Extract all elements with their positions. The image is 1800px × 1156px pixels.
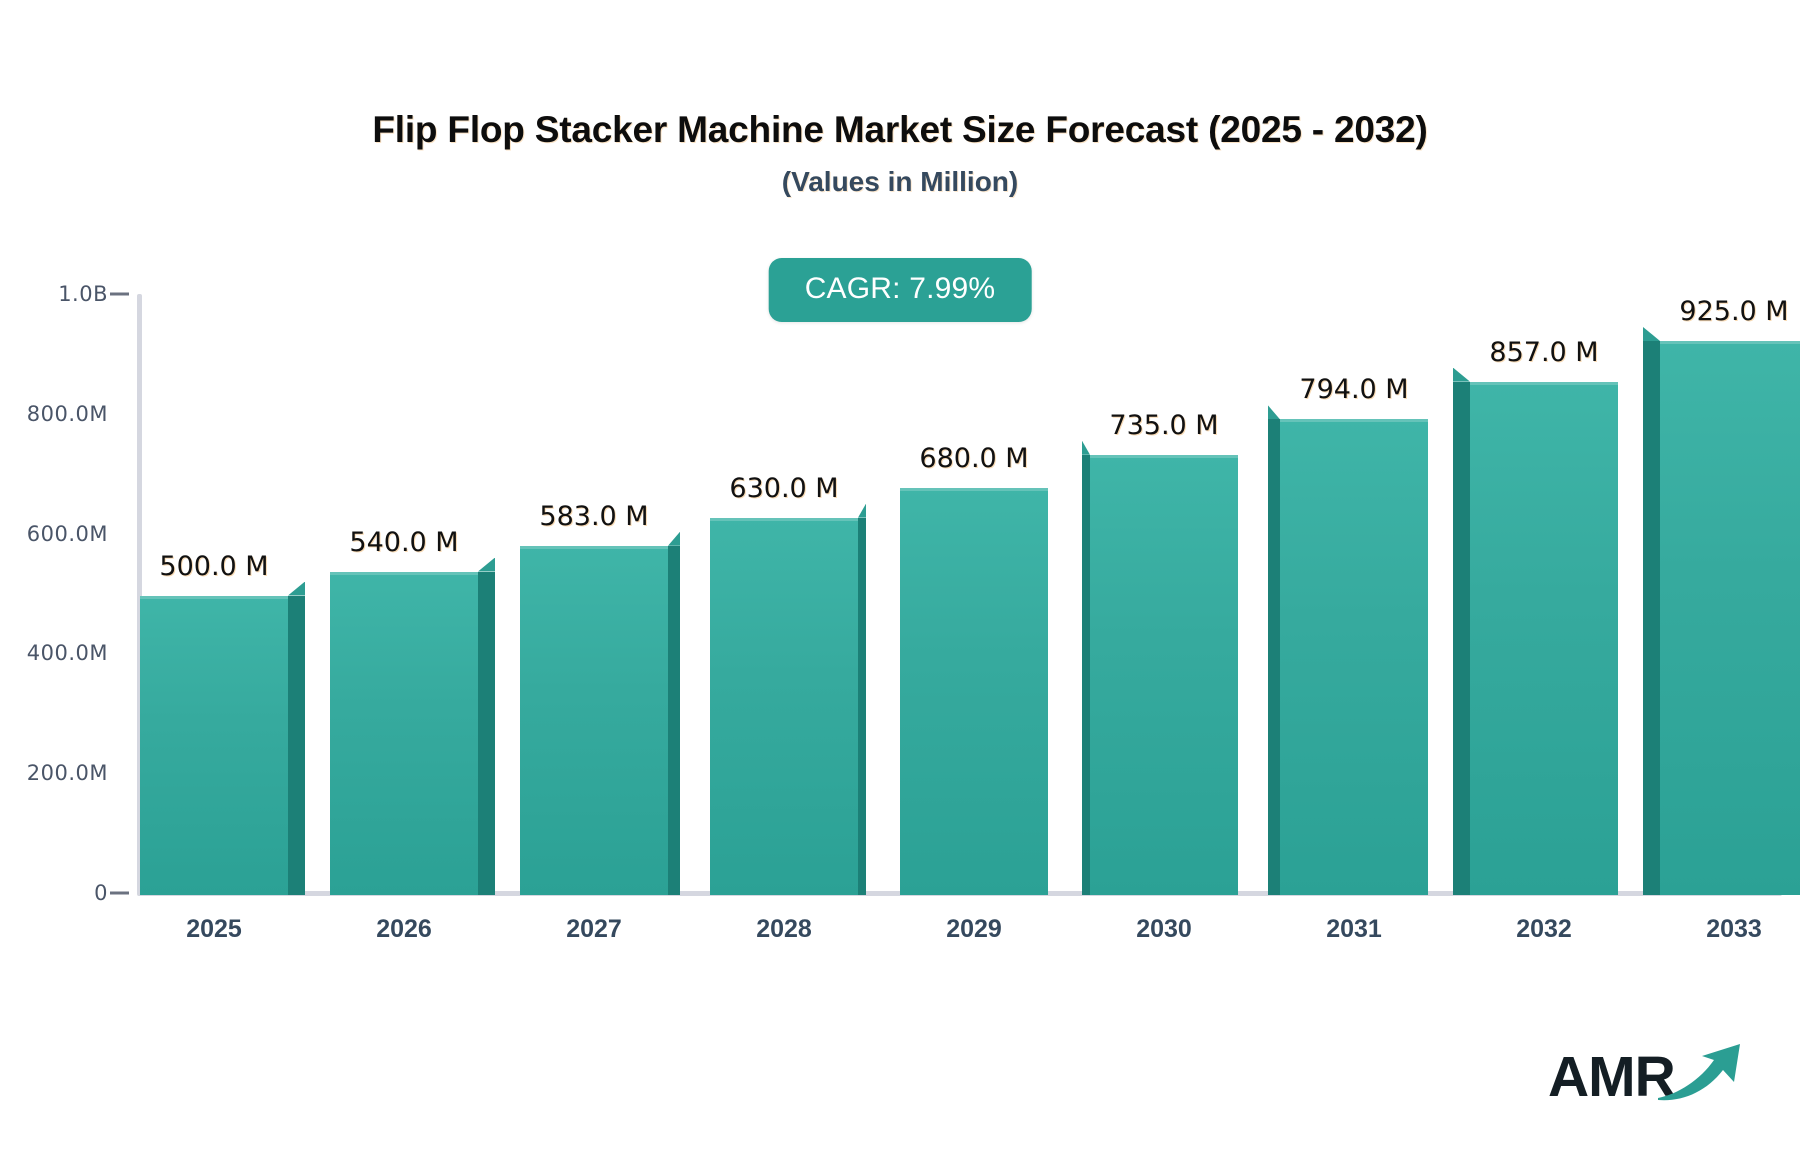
x-tick-label-2032: 2032 [1516,915,1572,944]
bar-face [140,596,288,896]
bar-top-face [288,582,305,596]
bar-top-face [1268,405,1280,419]
y-tick-label: 200.0M [27,761,108,785]
bar-2029: 680.0 M [900,488,1048,895]
bar-2032: 857.0 M [1470,382,1618,895]
bar-2026: 540.0 M [330,572,478,895]
bar-face [1470,382,1618,895]
y-tick-mark [110,892,129,895]
bar-top-face [858,504,866,518]
x-tick-label-2026: 2026 [376,915,432,944]
bar-value-label: 500.0 M [159,551,268,582]
x-tick-label-2031: 2031 [1326,915,1382,944]
bar-face [1660,341,1800,895]
x-tick-label-2033: 2033 [1706,915,1762,944]
bar-face [900,488,1048,895]
bar-face [1090,455,1238,895]
bar-face [1280,419,1428,895]
bar-side-face [1643,341,1660,895]
x-tick-label-2030: 2030 [1136,915,1192,944]
bar-value-label: 540.0 M [349,527,458,558]
bar-value-label: 857.0 M [1489,337,1598,368]
bar-side-face [478,572,495,895]
y-tick-mark [110,293,129,296]
bar-2030: 735.0 M [1090,455,1238,895]
bar-side-face [858,518,866,895]
x-tick-label-2029: 2029 [946,915,1002,944]
y-tick-label: 400.0M [27,641,108,665]
bar-2031: 794.0 M [1280,419,1428,895]
y-tick-label: 0 [94,881,108,905]
bar-side-face [288,596,305,896]
bar-value-label: 680.0 M [919,443,1028,474]
bar-2025: 500.0 M [140,596,288,896]
chart-container: Flip Flop Stacker Machine Market Size Fo… [0,0,1800,1156]
bar-2033: 925.0 M [1660,341,1800,895]
bar-value-label: 794.0 M [1299,374,1408,405]
amr-logo: AMR [1548,1036,1748,1114]
bar-value-label: 583.0 M [539,501,648,532]
bar-side-face [668,546,680,895]
bar-2028: 630.0 M [710,518,858,895]
bar-top-face [1453,368,1470,382]
bar-side-face [1453,382,1470,895]
plot-area: 1.0B800.0M600.0M400.0M200.0M0 500.0 M540… [0,0,1800,1156]
bar-value-label: 630.0 M [729,473,838,504]
bar-side-face [1082,455,1090,895]
bar-top-face [478,558,495,572]
y-tick-label: 800.0M [27,402,108,426]
bar-face [710,518,858,895]
y-tick-label: 1.0B [58,282,108,306]
y-tick-label: 600.0M [27,522,108,546]
bar-value-label: 925.0 M [1679,296,1788,327]
bar-value-label: 735.0 M [1109,410,1218,441]
growth-arrow-icon [1656,1042,1748,1104]
bar-top-face [1082,441,1090,455]
bar-2027: 583.0 M [520,546,668,895]
bar-side-face [1268,419,1280,895]
bar-top-face [668,532,680,546]
bar-face [330,572,478,895]
x-tick-label-2027: 2027 [566,915,622,944]
bar-top-face [1643,327,1660,341]
x-tick-label-2025: 2025 [186,915,242,944]
bar-face [520,546,668,895]
x-tick-label-2028: 2028 [756,915,812,944]
